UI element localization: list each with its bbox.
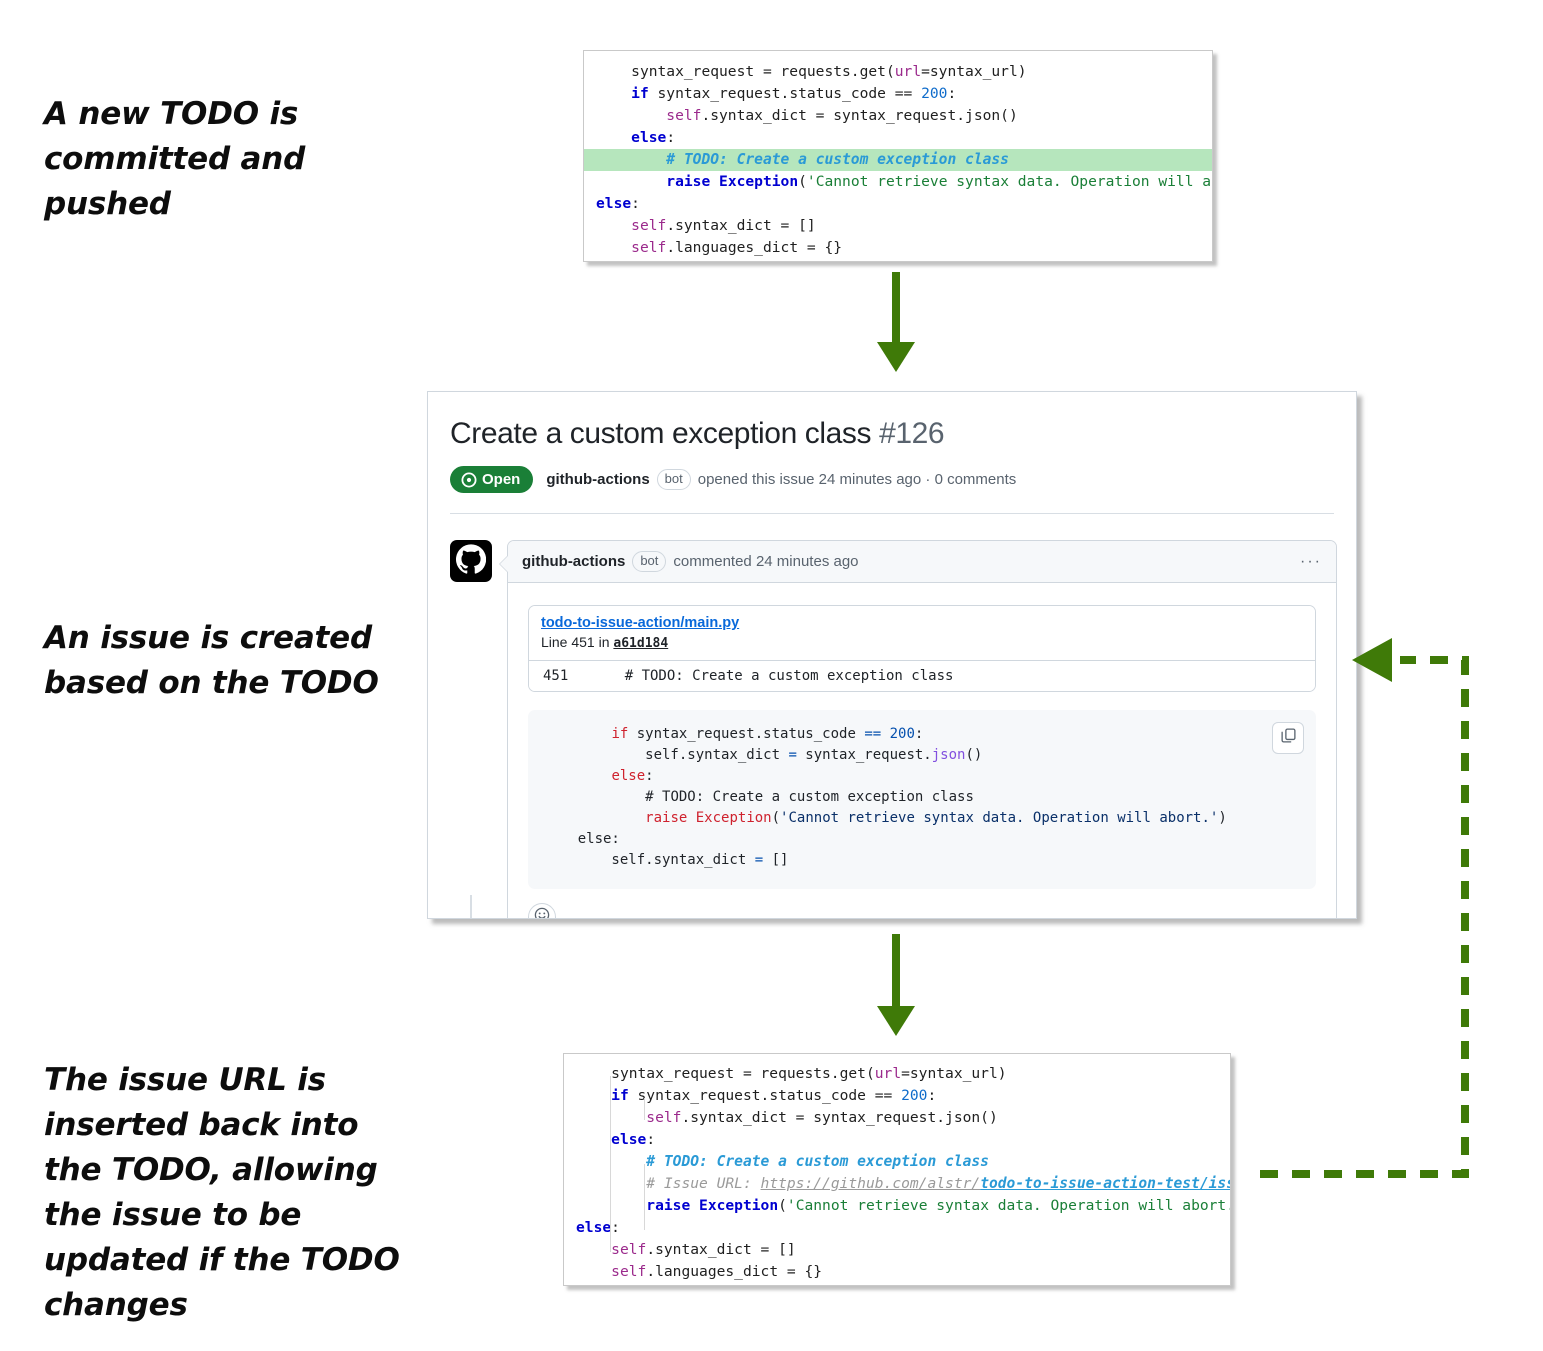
permalink-header: todo-to-issue-action/main.py Line 451 in… [529, 606, 1315, 661]
permalink-code-row: 451 # TODO: Create a custom exception cl… [529, 661, 1315, 691]
smiley-icon [534, 907, 550, 920]
code-screenshot-after: syntax_request = requests.get(url=syntax… [563, 1053, 1231, 1286]
permalink-line-number: 451 [529, 668, 591, 684]
kebab-menu-icon[interactable]: ··· [1300, 554, 1322, 570]
caption-step-3: The issue URL is inserted back into the … [44, 1058, 414, 1328]
diagram-canvas: A new TODO is committed and pushed An is… [0, 0, 1543, 1351]
code-line: # TODO: Create a custom exception class [576, 1151, 1230, 1173]
code-content-after: syntax_request = requests.get(url=syntax… [564, 1054, 1230, 1286]
comment-author[interactable]: github-actions [522, 553, 625, 570]
github-issue-card: Create a custom exception class #126 Ope… [427, 391, 1357, 919]
caption-step-1: A new TODO is committed and pushed [44, 92, 374, 227]
code-line: self.syntax_dict = syntax_request.json() [544, 745, 1300, 766]
permalink-snippet: todo-to-issue-action/main.py Line 451 in… [528, 605, 1316, 692]
code-line: self.syntax_dict = [] [544, 850, 1300, 871]
issue-meta-text: opened this issue 24 minutes ago · 0 com… [698, 471, 1017, 488]
status-badge-label: Open [482, 471, 520, 488]
comment-meta-text: commented 24 minutes ago [673, 553, 858, 570]
code-line: self.syntax_dict = syntax_request.json() [576, 1107, 1230, 1129]
issue-author-bot-chip: bot [657, 469, 691, 490]
code-line: raise Exception('Cannot retrieve syntax … [596, 171, 1212, 193]
code-line: else: [596, 193, 1212, 215]
code-line: # TODO: Create a custom exception class [544, 787, 1300, 808]
comment-code-content: if syntax_request.status_code == 200: se… [544, 724, 1300, 871]
code-line: else: [576, 1217, 1230, 1239]
issue-title-text: Create a custom exception class [450, 417, 871, 450]
permalink-line-info: Line 451 in a61d184 [541, 634, 668, 650]
code-line: else: [596, 127, 1212, 149]
issue-title: Create a custom exception class #126 [450, 415, 1356, 453]
code-line: self.syntax_dict = [] [596, 215, 1212, 237]
status-badge[interactable]: Open [450, 466, 533, 493]
code-line: self.languages_dict = {} [596, 237, 1212, 259]
permalink-sha-link[interactable]: a61d184 [613, 636, 668, 651]
code-line: syntax_request = requests.get(url=syntax… [576, 1063, 1230, 1085]
add-reaction-button[interactable] [528, 903, 556, 919]
issue-author[interactable]: github-actions [546, 471, 649, 488]
code-line: if syntax_request.status_code == 200: [544, 724, 1300, 745]
arrow-feedback-dashed [1240, 630, 1500, 1200]
code-line: raise Exception('Cannot retrieve syntax … [576, 1195, 1230, 1217]
issue-open-icon [461, 472, 477, 488]
caption-step-2: An issue is created based on the TODO [44, 616, 394, 706]
code-line: self.syntax_dict = [] [576, 1239, 1230, 1261]
comment-box: github-actions bot commented 24 minutes … [507, 540, 1337, 919]
issue-url-prefix[interactable]: https://github.com/alstr/ [761, 1175, 981, 1192]
issue-meta-row: Open github-actions bot opened this issu… [450, 466, 1356, 493]
permalink-line-text: # TODO: Create a custom exception class [591, 668, 953, 684]
permalink-line-prefix: Line 451 in [541, 634, 613, 650]
github-logo-icon [456, 544, 486, 579]
code-line: else: [544, 829, 1300, 850]
issue-url-suffix[interactable]: todo-to-issue-action-test/issues/126 [980, 1175, 1231, 1192]
code-line: else: [576, 1129, 1230, 1151]
code-line-issue-url: # Issue URL: https://github.com/alstr/to… [576, 1173, 1230, 1195]
code-line: if syntax_request.status_code == 200: [576, 1085, 1230, 1107]
issue-header-divider [450, 513, 1334, 514]
code-line: raise Exception('Cannot retrieve syntax … [544, 808, 1300, 829]
comment-row: github-actions bot commented 24 minutes … [450, 540, 1356, 919]
code-line: if syntax_request.status_code == 200: [596, 83, 1212, 105]
comment-body: todo-to-issue-action/main.py Line 451 in… [508, 583, 1336, 919]
code-line: self.languages_dict = {} [576, 1261, 1230, 1283]
code-line-todo-highlight: # TODO: Create a custom exception class [584, 149, 1213, 171]
code-screenshot-before: syntax_request = requests.get(url=syntax… [583, 50, 1213, 262]
comment-code-fence: if syntax_request.status_code == 200: se… [528, 710, 1316, 889]
code-content-before: syntax_request = requests.get(url=syntax… [584, 51, 1212, 262]
issue-number: #126 [879, 417, 944, 450]
arrow-down-1 [865, 268, 935, 378]
avatar[interactable] [450, 540, 492, 582]
code-line: syntax_request = requests.get(url=syntax… [596, 61, 1212, 83]
comment-author-bot-chip: bot [632, 551, 666, 572]
code-line: else: [544, 766, 1300, 787]
arrow-down-2 [865, 930, 935, 1040]
permalink-file-link[interactable]: todo-to-issue-action/main.py [541, 614, 1303, 633]
comment-header: github-actions bot commented 24 minutes … [508, 541, 1336, 583]
code-line: self.syntax_dict = syntax_request.json() [596, 105, 1212, 127]
